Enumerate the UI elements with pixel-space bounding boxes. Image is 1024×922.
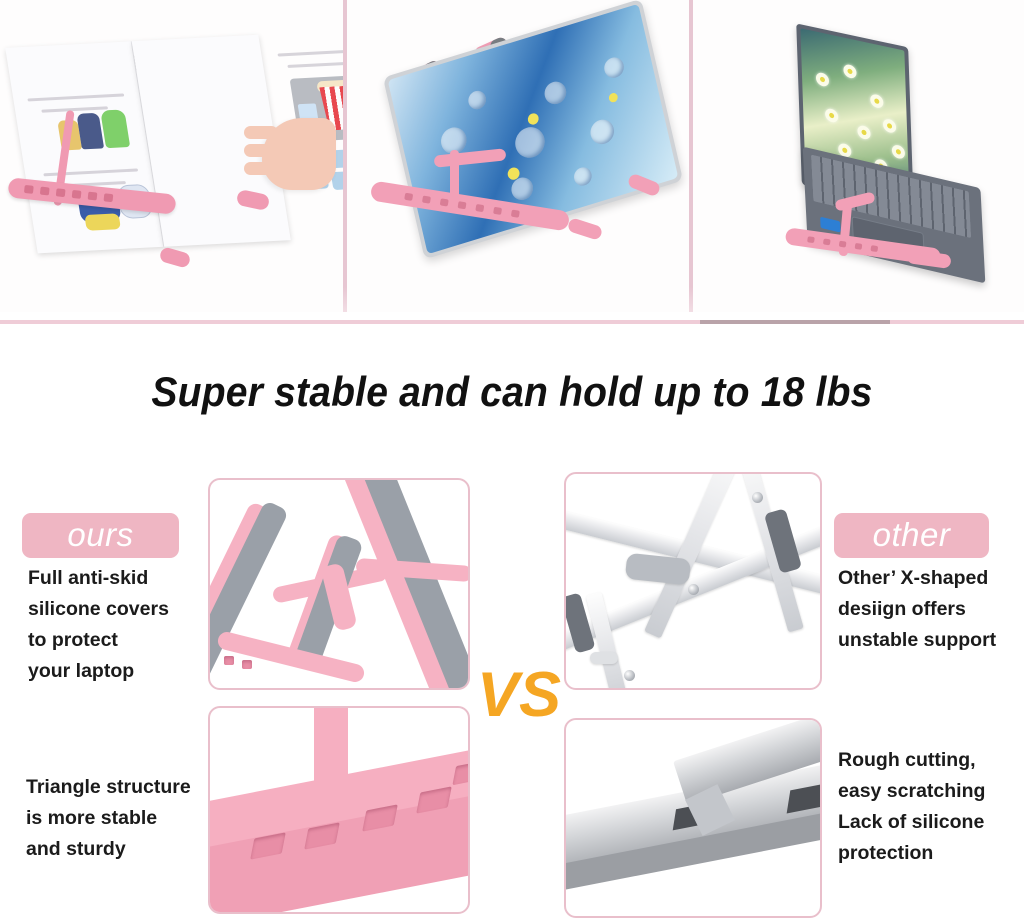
photo-tablet-stand — [346, 0, 690, 312]
ours-silicone-photo — [208, 478, 470, 690]
ours-bottom-line-3: and sturdy — [26, 834, 226, 865]
other-bottom-line-1: Rough cutting, — [838, 745, 1024, 776]
hand — [262, 118, 336, 190]
ours-badge: ours — [22, 513, 179, 558]
photo-laptop-stand — [693, 0, 1024, 312]
ours-line-4: your laptop — [28, 656, 218, 687]
other-bottom-line-2: easy scratching — [838, 776, 1024, 807]
product-infographic: Super stable and can hold up to 18 lbs — [0, 0, 1024, 922]
ours-line-1: Full anti-skid — [28, 563, 218, 594]
other-bottom-line-3: Lack of silicone — [838, 807, 1024, 838]
other-rough-edge-photo — [564, 718, 822, 918]
other-bottom-description: Rough cutting, easy scratching Lack of s… — [838, 745, 1024, 869]
ours-bottom-description: Triangle structure is more stable and st… — [26, 772, 226, 865]
photo-book-stand — [0, 0, 343, 312]
ours-line-2: silicone covers — [28, 594, 218, 625]
ours-bottom-line-2: is more stable — [26, 803, 226, 834]
other-description: Other’ X-shaped desiign offers unstable … — [838, 563, 1024, 656]
other-badge: other — [834, 513, 989, 558]
other-line-1: Other’ X-shaped — [838, 563, 1024, 594]
other-xshape-photo — [564, 472, 822, 690]
page-headline: Super stable and can hold up to 18 lbs — [36, 368, 988, 416]
horizontal-divider-shadow — [700, 320, 890, 324]
stand-bottom-lip-left — [159, 246, 192, 269]
laptop-keyboard-deck — [803, 147, 986, 284]
intel-sticker — [820, 217, 841, 233]
other-line-2: desiign offers — [838, 594, 1024, 625]
stand-bottom-lip-left — [567, 217, 604, 241]
vs-label: VS — [466, 660, 572, 730]
top-photo-strip — [0, 0, 1024, 322]
ours-base-slots-photo — [208, 706, 470, 914]
ours-bottom-line-1: Triangle structure — [26, 772, 226, 803]
other-line-3: unstable support — [838, 625, 1024, 656]
other-bottom-line-4: protection — [838, 838, 1024, 869]
vertical-divider-left — [343, 0, 347, 312]
ours-description: Full anti-skid silicone covers to protec… — [28, 563, 218, 687]
vertical-divider-right — [689, 0, 693, 312]
ours-line-3: to protect — [28, 625, 218, 656]
